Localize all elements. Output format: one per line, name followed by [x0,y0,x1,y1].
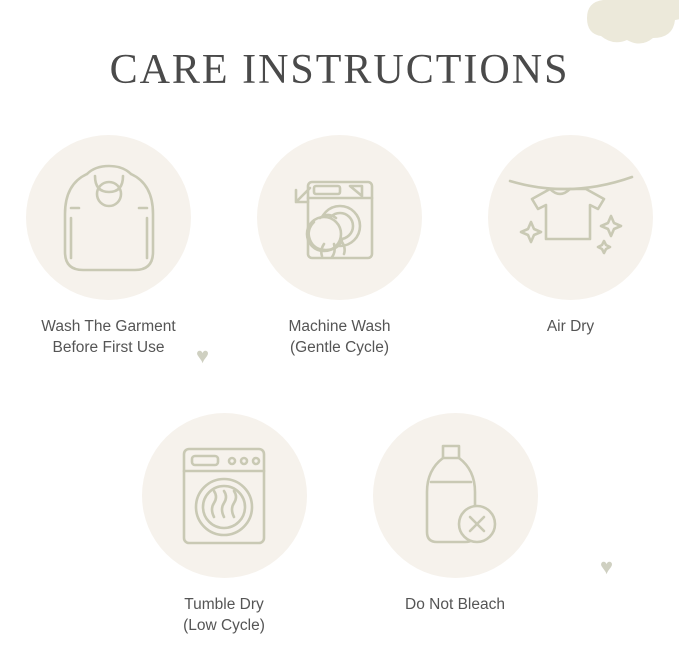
icon-circle [373,413,538,578]
care-item-tumble-dry: Tumble Dry (Low Cycle) [142,413,307,636]
no-bleach-bottle-icon [405,438,505,554]
care-row-1: Wash The Garment Before First Use [0,135,679,358]
clothesline-air-dry-icon [506,163,636,273]
care-item-label: Do Not Bleach [405,594,505,615]
icon-circle [26,135,191,300]
icon-circle [142,413,307,578]
care-item-label: Tumble Dry (Low Cycle) [183,594,265,636]
heart-accent-1: ♥ [196,345,209,367]
icon-circle [488,135,653,300]
care-item-label: Machine Wash (Gentle Cycle) [289,316,391,358]
care-item-air-dry: Air Dry [488,135,653,358]
tumble-dryer-icon [174,441,274,551]
care-item-label: Air Dry [547,316,594,337]
page-title: CARE INSTRUCTIONS [0,46,679,94]
baby-bib-icon [57,160,161,276]
care-item-machine-wash: Machine Wash (Gentle Cycle) [257,135,422,358]
care-item-label: Wash The Garment Before First Use [41,316,175,358]
care-row-2: Tumble Dry (Low Cycle) Do Not Bleach [0,413,679,636]
washing-machine-gentle-icon [284,160,396,276]
care-item-do-not-bleach: Do Not Bleach [373,413,538,636]
heart-accent-2: ♥ [600,556,613,578]
icon-circle [257,135,422,300]
care-item-wash-before-first-use: Wash The Garment Before First Use [26,135,191,358]
